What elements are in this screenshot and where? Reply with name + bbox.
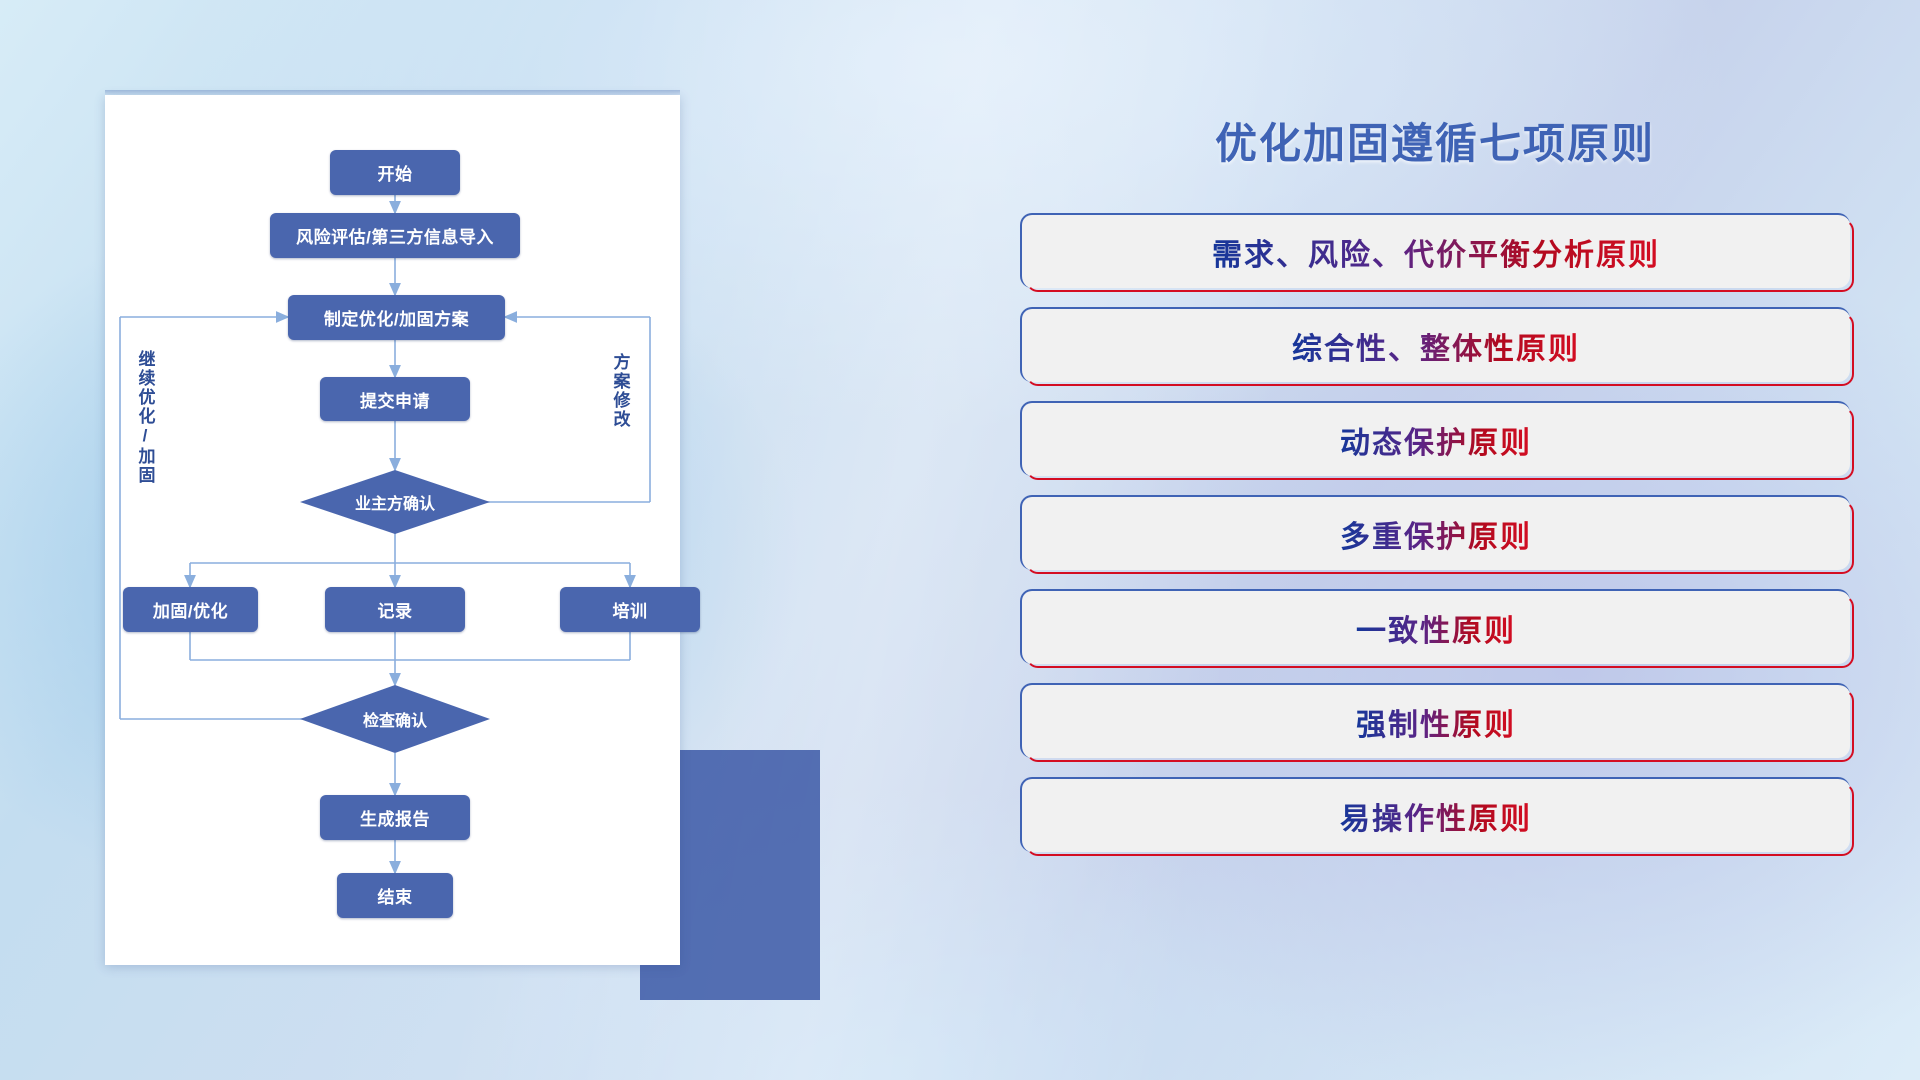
principles-title: 优化加固遵循七项原则 — [1020, 110, 1850, 171]
principle-card[interactable]: 多重保护原则 — [1020, 495, 1850, 570]
flow-node-submit[interactable]: 提交申请 — [320, 377, 470, 421]
principle-label: 易操作性原则 — [1340, 794, 1532, 838]
principle-card[interactable]: 综合性、整体性原则 — [1020, 307, 1850, 382]
flow-node-training[interactable]: 培训 — [560, 587, 700, 632]
principle-label: 强制性原则 — [1356, 700, 1516, 744]
principle-label: 综合性、整体性原则 — [1292, 324, 1580, 368]
flow-node-label: 提交申请 — [360, 387, 430, 412]
principle-label: 动态保护原则 — [1340, 418, 1532, 462]
flow-node-label: 制定优化/加固方案 — [324, 305, 469, 330]
flow-node-label: 结束 — [378, 883, 413, 908]
principles-list: 需求、风险、代价平衡分析原则 综合性、整体性原则 动态保护原则 多重保护原则 一… — [1020, 213, 1850, 852]
principle-label: 需求、风险、代价平衡分析原则 — [1212, 230, 1660, 274]
flow-node-risk-assessment[interactable]: 风险评估/第三方信息导入 — [270, 213, 520, 258]
principle-label: 一致性原则 — [1356, 606, 1516, 650]
flow-node-label: 业主方确认 — [355, 490, 435, 514]
flow-node-label: 加固/优化 — [153, 597, 228, 622]
flowchart: 开始 风险评估/第三方信息导入 制定优化/加固方案 提交申请 业主方确认 加固/… — [105, 95, 680, 965]
edge-label-plan-revision: 方案修改 — [610, 353, 630, 429]
principles-panel: 优化加固遵循七项原则 需求、风险、代价平衡分析原则 综合性、整体性原则 动态保护… — [1020, 95, 1850, 995]
flow-node-reinforce[interactable]: 加固/优化 — [123, 587, 258, 632]
flow-node-label: 记录 — [378, 597, 413, 622]
edge-label-continue-optimize: 继续优化/加固 — [135, 350, 155, 485]
flow-node-end[interactable]: 结束 — [337, 873, 453, 918]
flow-node-record[interactable]: 记录 — [325, 587, 465, 632]
flow-node-plan[interactable]: 制定优化/加固方案 — [288, 295, 505, 340]
flow-node-start[interactable]: 开始 — [330, 150, 460, 195]
flow-node-report[interactable]: 生成报告 — [320, 795, 470, 840]
principle-card[interactable]: 强制性原则 — [1020, 683, 1850, 758]
flow-node-label: 生成报告 — [360, 805, 430, 830]
flow-node-owner-confirm[interactable]: 业主方确认 — [300, 470, 490, 534]
principle-card[interactable]: 易操作性原则 — [1020, 777, 1850, 852]
principle-card[interactable]: 一致性原则 — [1020, 589, 1850, 664]
flow-node-label: 培训 — [613, 597, 648, 622]
flow-node-label: 开始 — [378, 160, 413, 185]
flow-node-check-confirm[interactable]: 检查确认 — [300, 685, 490, 753]
principle-card[interactable]: 需求、风险、代价平衡分析原则 — [1020, 213, 1850, 288]
flow-node-label: 检查确认 — [363, 707, 427, 731]
flow-node-label: 风险评估/第三方信息导入 — [296, 223, 494, 248]
principle-label: 多重保护原则 — [1340, 512, 1532, 556]
principle-card[interactable]: 动态保护原则 — [1020, 401, 1850, 476]
